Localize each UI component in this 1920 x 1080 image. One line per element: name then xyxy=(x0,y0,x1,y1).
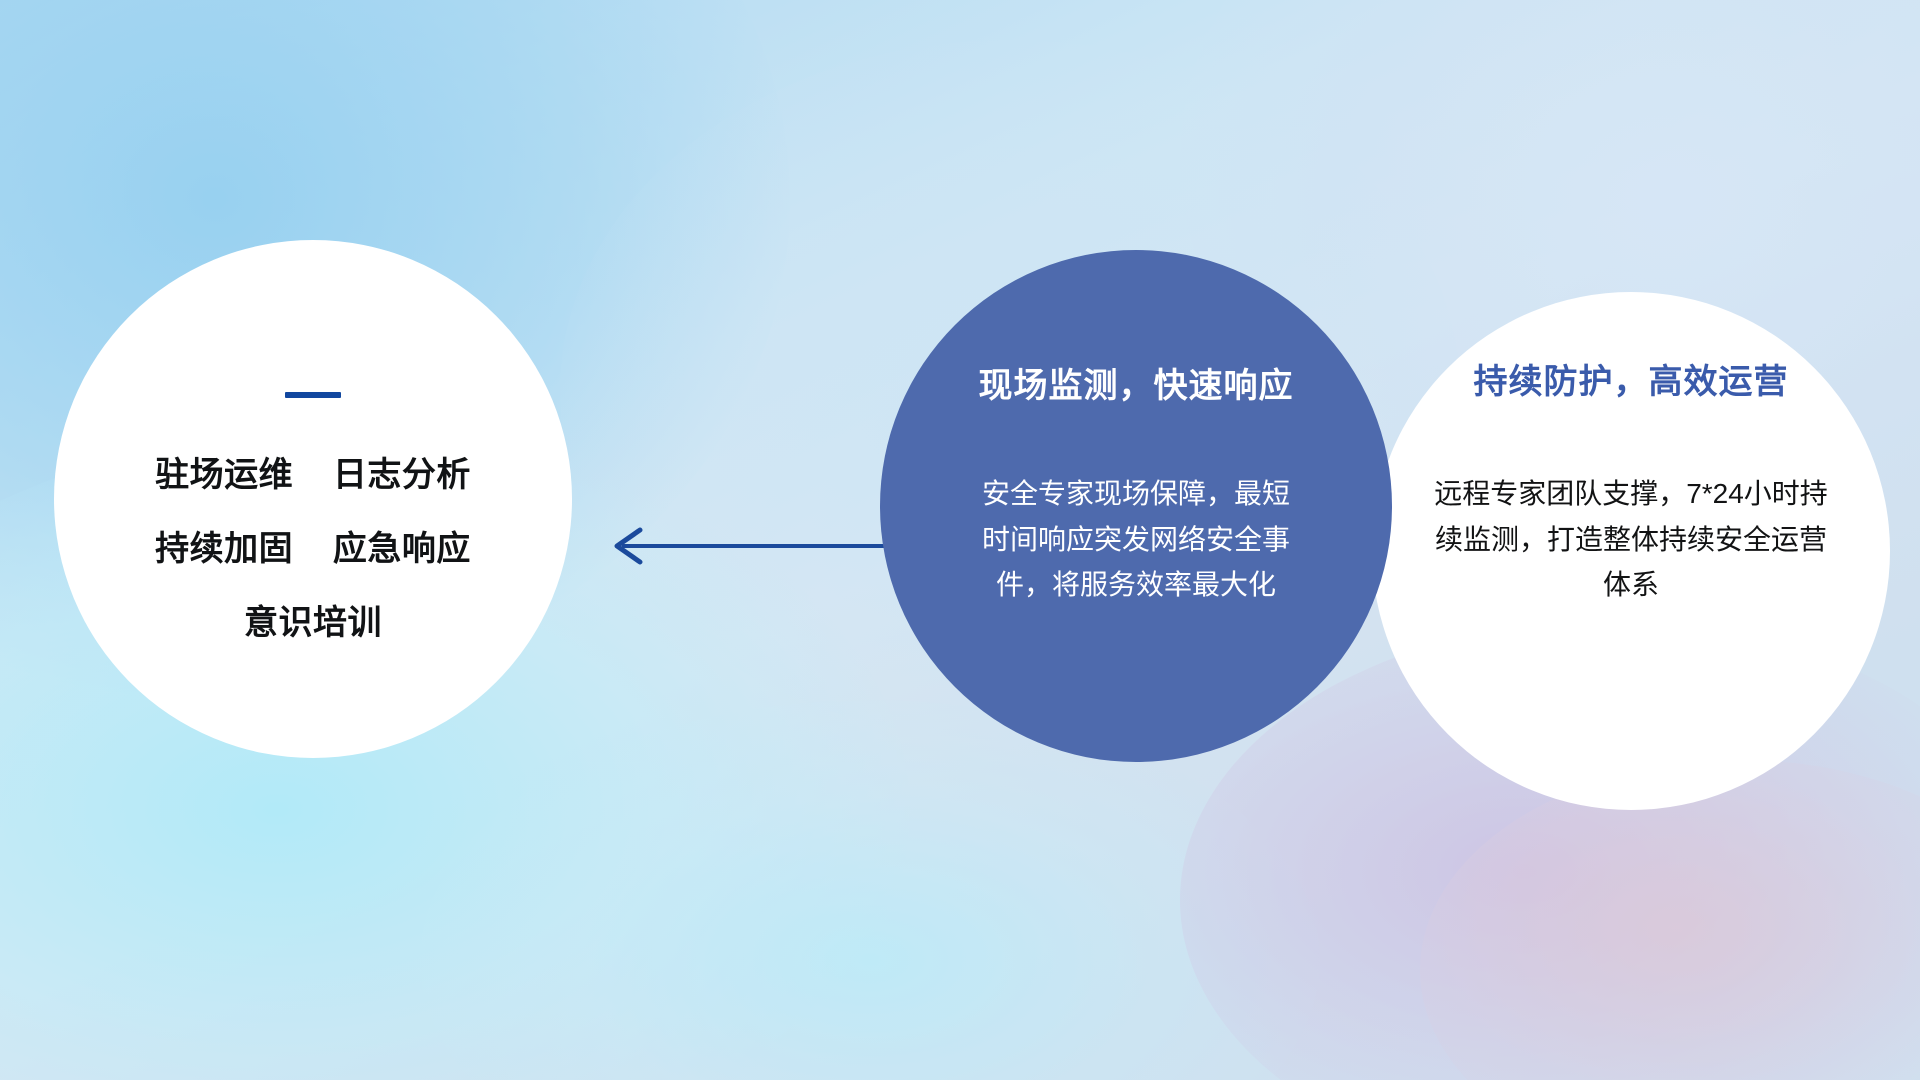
blue-divider-dash xyxy=(285,392,341,398)
left-keyword-line-2: 持续加固 应急响应 xyxy=(155,532,471,566)
right-operations-circle[interactable]: 持续防护，高效运营 远程专家团队支撑，7*24小时持续监测，打造整体持续安全运营… xyxy=(1372,292,1890,810)
right-circle-body: 远程专家团队支撑，7*24小时持续监测，打造整体持续安全运营体系 xyxy=(1431,471,1831,607)
left-keyword-line-1: 驻场运维 日志分析 xyxy=(155,458,471,492)
middle-circle-content: 现场监测，快速响应 安全专家现场保障，最短时间响应突发网络安全事件，将服务效率最… xyxy=(880,250,1392,762)
right-circle-content: 持续防护，高效运营 远程专家团队支撑，7*24小时持续监测，打造整体持续安全运营… xyxy=(1372,292,1890,810)
middle-monitoring-circle[interactable]: 现场监测，快速响应 安全专家现场保障，最短时间响应突发网络安全事件，将服务效率最… xyxy=(880,250,1392,762)
middle-circle-title: 现场监测，快速响应 xyxy=(979,368,1294,405)
left-keyword-line-3: 意识培训 xyxy=(244,606,382,640)
left-circle-content: 驻场运维 日志分析 持续加固 应急响应 意识培训 xyxy=(54,240,572,758)
connector-arrow-icon xyxy=(600,520,900,572)
middle-circle-body: 安全专家现场保障，最短时间响应突发网络安全事件，将服务效率最大化 xyxy=(971,471,1301,607)
left-capability-circle[interactable]: 驻场运维 日志分析 持续加固 应急响应 意识培训 xyxy=(54,240,572,758)
slide-canvas: 驻场运维 日志分析 持续加固 应急响应 意识培训 持续防护，高效运营 远程专家团… xyxy=(0,0,1920,1080)
right-circle-title: 持续防护，高效运营 xyxy=(1474,364,1789,401)
